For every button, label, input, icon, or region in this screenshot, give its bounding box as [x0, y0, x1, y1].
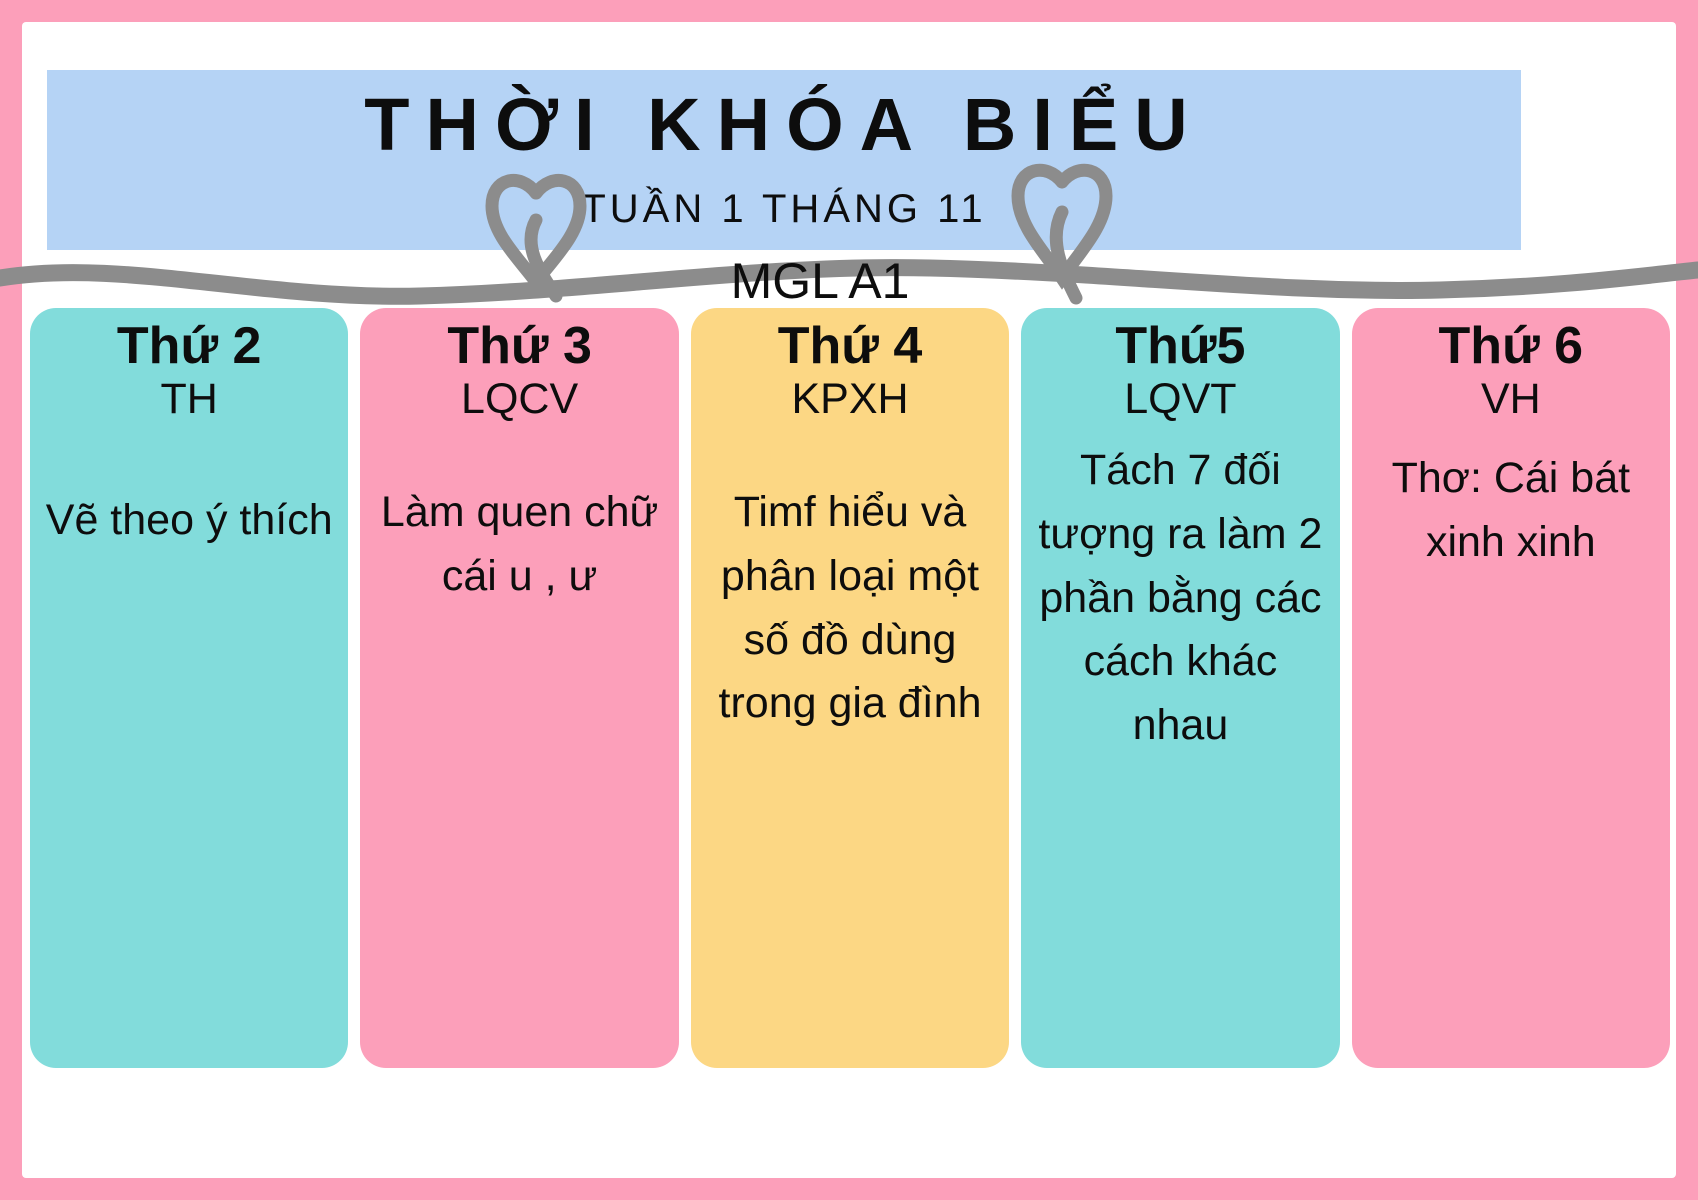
poster-subtitle: TUẦN 1 THÁNG 11	[47, 187, 1521, 232]
day-card-thu-4[interactable]: Thứ 4 KPXH Timf hiểu và phân loại một số…	[691, 308, 1009, 1068]
schedule-cards-row: Thứ 2 TH Vẽ theo ý thích Thứ 3 LQCV Làm …	[30, 308, 1670, 1068]
day-name: Thứ 3	[447, 318, 592, 374]
activity-text: Vẽ theo ý thích	[42, 489, 337, 553]
activity-text: Làm quen chữ cái u , ư	[366, 481, 672, 608]
day-name: Thứ5	[1115, 318, 1245, 374]
subject-code: VH	[1481, 376, 1541, 423]
day-name: Thứ 2	[117, 318, 262, 374]
activity-text: Thơ: Cái bát xinh xinh	[1358, 447, 1664, 574]
day-name: Thứ 6	[1439, 318, 1584, 374]
subject-code: TH	[161, 376, 218, 423]
subject-code: KPXH	[791, 376, 908, 423]
activity-text: Tách 7 đối tượng ra làm 2 phần bằng các …	[1027, 439, 1333, 757]
subject-code: LQVT	[1124, 376, 1236, 423]
day-card-thu-3[interactable]: Thứ 3 LQCV Làm quen chữ cái u , ư	[360, 308, 678, 1068]
header-banner: THỜI KHÓA BIỂU TUẦN 1 THÁNG 11	[47, 70, 1521, 250]
schedule-poster: THỜI KHÓA BIỂU TUẦN 1 THÁNG 11 MGL A1 Th…	[0, 0, 1698, 1200]
day-card-thu-2[interactable]: Thứ 2 TH Vẽ theo ý thích	[30, 308, 348, 1068]
activity-text: Timf hiểu và phân loại một số đồ dùng tr…	[697, 481, 1003, 736]
day-card-thu-6[interactable]: Thứ 6 VH Thơ: Cái bát xinh xinh	[1352, 308, 1670, 1068]
class-label: MGL A1	[0, 252, 1640, 310]
subject-code: LQCV	[461, 376, 578, 423]
day-name: Thứ 4	[778, 318, 923, 374]
page-title: THỜI KHÓA BIỂU	[47, 84, 1521, 165]
day-card-thu-5[interactable]: Thứ5 LQVT Tách 7 đối tượng ra làm 2 phần…	[1021, 308, 1339, 1068]
